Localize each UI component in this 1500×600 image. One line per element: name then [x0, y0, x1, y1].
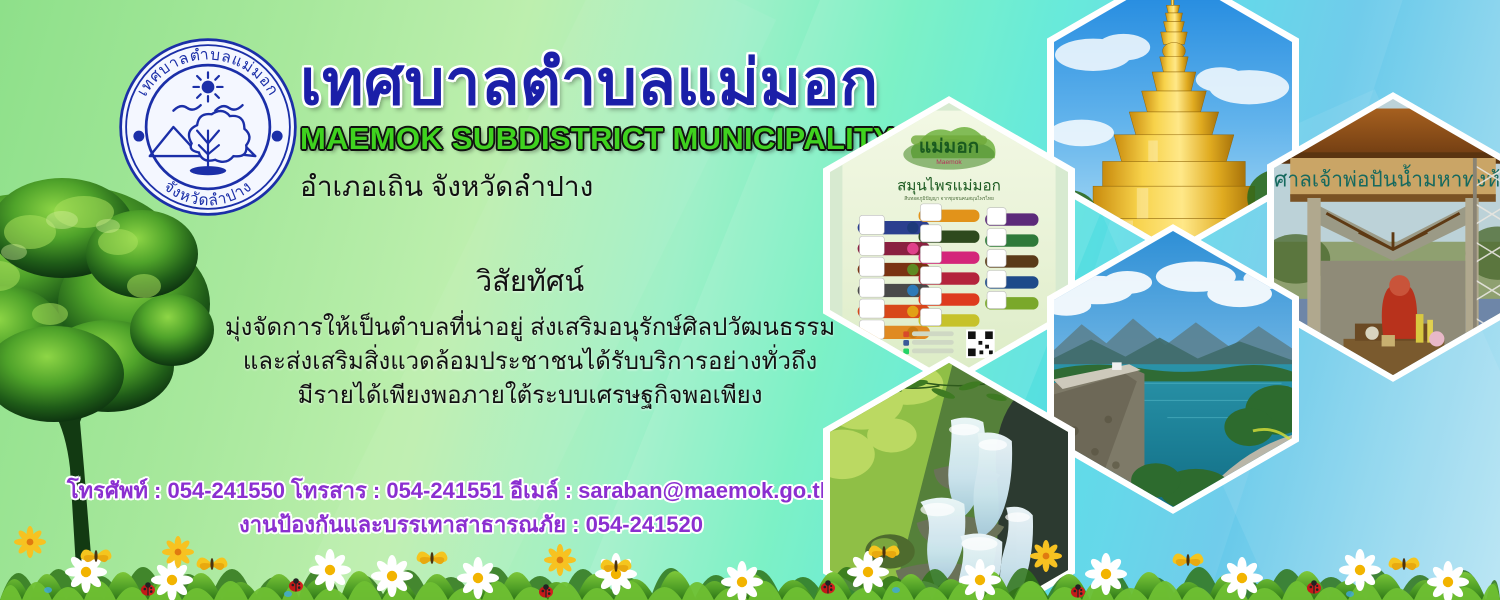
vision-line-3: มีรายได้เพียงพอภายใต้ระบบเศรษฐกิจพอเพียง — [180, 379, 880, 413]
flower-daisy — [721, 561, 763, 600]
hexagon-photo-collage: วัดพ บ้านกุ่ม อำเภอ — [805, 0, 1500, 574]
poster-title: สมุนไพรแม่มอก — [897, 177, 1001, 196]
hex-photo-dam-reservoir — [1047, 224, 1299, 514]
vision-line-2: และส่งเสริมสิ่งแวดล้อมประชาชนได้รับบริกา… — [180, 345, 880, 379]
flower-daisy — [1427, 561, 1469, 600]
vision-line-1: มุ่งจัดการให้เป็นตำบลที่น่าอยู่ ส่งเสริม… — [180, 311, 880, 345]
butterfly-icon — [1389, 557, 1420, 570]
municipality-logo: เทศบาลตำบลแม่มอก จังหวัดลำปาง — [117, 36, 299, 218]
hex-photo-golden-pagoda: วัดพ บ้านกุ่ม อำเภอ — [1047, 0, 1299, 256]
poster-logo-sub: Maemok — [936, 159, 962, 166]
butterfly-icon — [869, 545, 900, 558]
shrine-sign-text: ศาลเจ้าพ่อปันน้ำมหาทงห้า — [1274, 165, 1500, 192]
pagoda-caption-line2: บ้านกุ่ม — [1260, 0, 1285, 5]
butterfly-icon — [81, 549, 112, 562]
flower-yellow — [162, 536, 194, 568]
ladybug-icon — [289, 578, 303, 591]
flower-yellow — [14, 526, 46, 558]
butterfly-icon — [197, 557, 228, 570]
grass-flower-border — [0, 508, 1500, 600]
contact-line-primary: โทรศัพท์ : 054-241550 โทรสาร : 054-24155… — [60, 474, 840, 508]
butterfly-icon — [601, 559, 632, 572]
vision-heading: วิสัยทัศน์ — [180, 258, 880, 304]
hex-photo-riverside-shrine: ศาลเจ้าพ่อปันน้ำมหาทงห้า — [1267, 92, 1500, 382]
vision-block: วิสัยทัศน์ มุ่งจัดการให้เป็นตำบลที่น่าอย… — [180, 258, 880, 413]
poster-logo-text: แม่มอก — [919, 136, 979, 157]
pagoda-caption-line3: อำเภอ — [1260, 5, 1285, 17]
flower-yellow — [544, 544, 576, 576]
flower-daisy — [959, 559, 1001, 600]
butterfly-icon — [1173, 553, 1204, 566]
municipality-banner: เทศบาลตำบลแม่มอก จังหวัดลำปาง เทศบาลตำบล… — [0, 0, 1500, 600]
butterfly-icon — [417, 551, 448, 564]
flower-daisy — [151, 559, 193, 600]
flower-yellow — [1030, 540, 1062, 572]
hex-photo-herbal-poster: แม่มอก Maemok สมุนไพรแม่มอก สืบทอดภูมิปั… — [823, 96, 1075, 386]
